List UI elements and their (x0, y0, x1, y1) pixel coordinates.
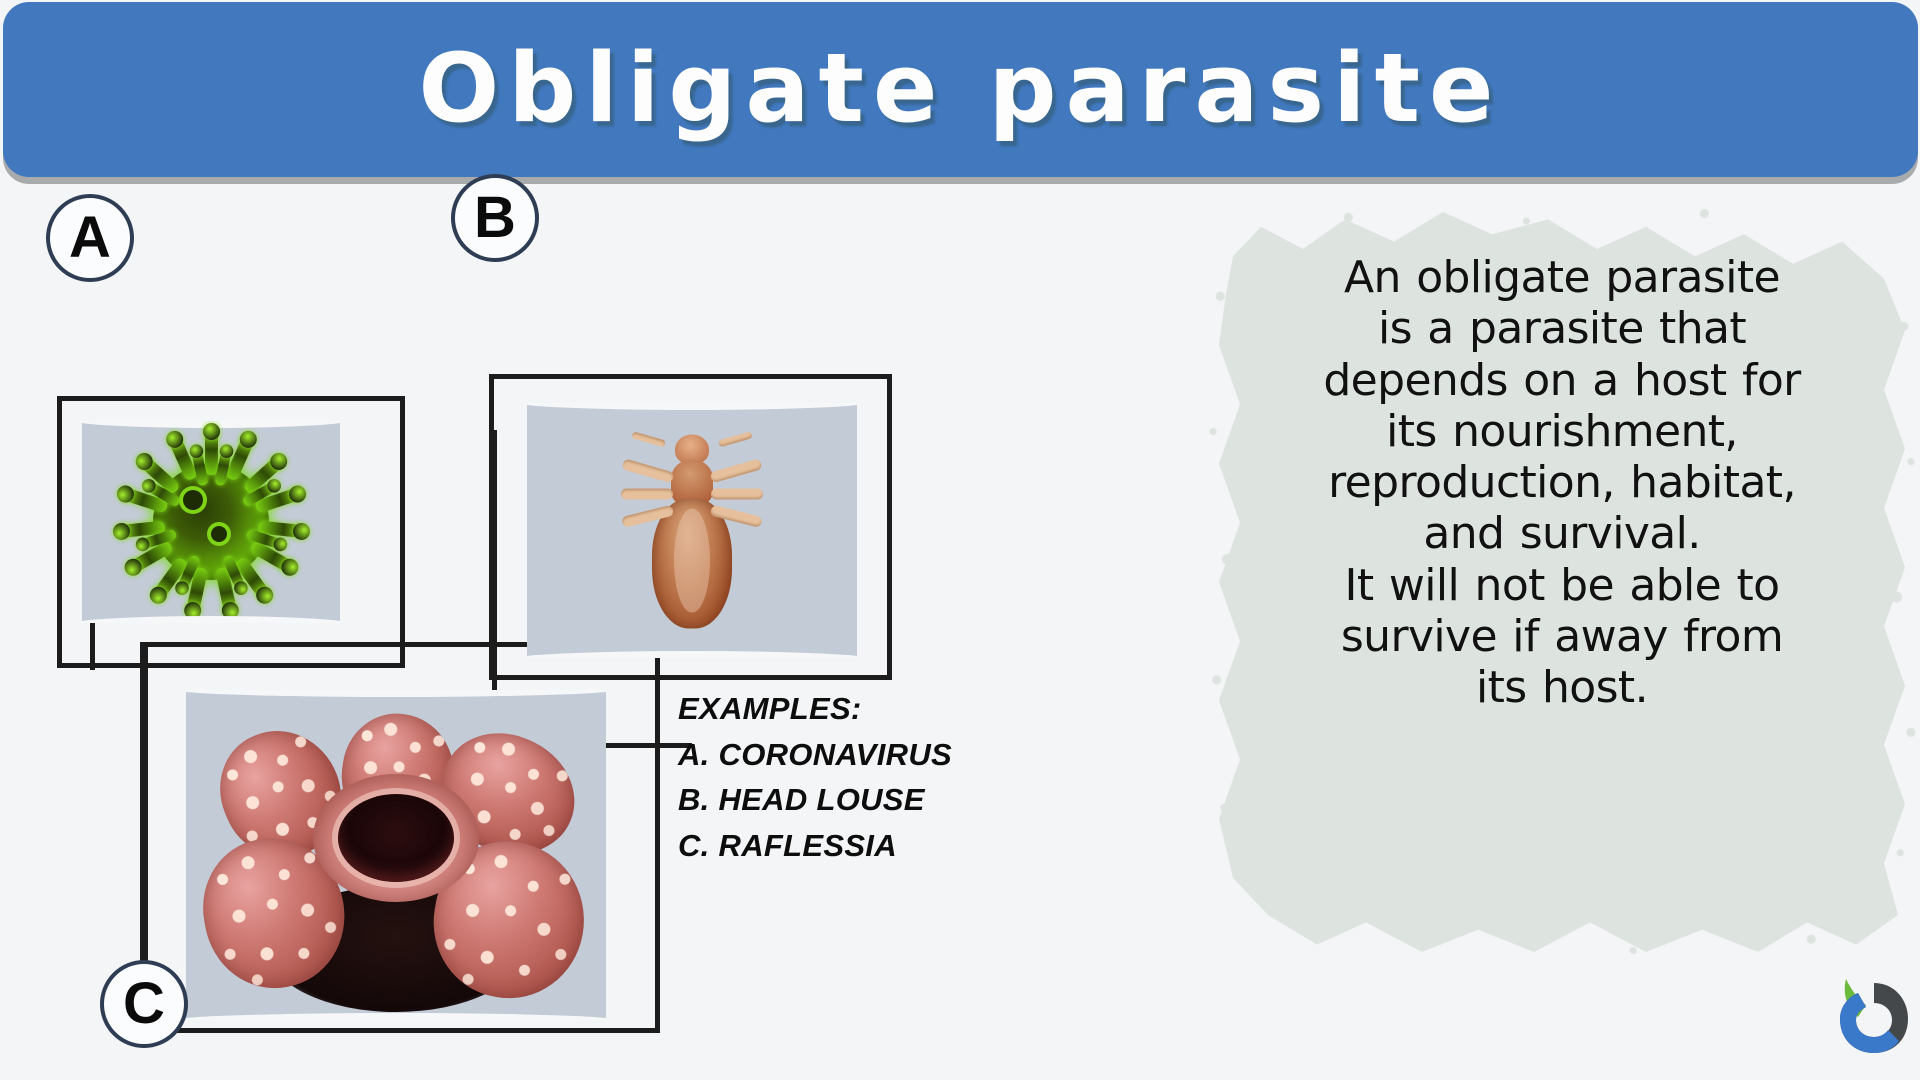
page-title: Obligate parasite (419, 42, 1503, 137)
definition-line-9: its host. (1238, 662, 1886, 713)
examples-diagram: A B C (0, 180, 1000, 1080)
biology-online-logo[interactable] (1836, 977, 1912, 1055)
head-louse-image (527, 403, 857, 658)
louse-illustration (607, 428, 777, 633)
rafflesia-image (186, 690, 606, 1020)
definition-text: An obligate parasite is a parasite that … (1212, 252, 1912, 713)
definition-panel: An obligate parasite is a parasite that … (1212, 212, 1912, 952)
badge-a: A (46, 194, 134, 282)
badge-c: C (100, 960, 188, 1048)
definition-line-3: depends on a host for (1238, 355, 1886, 406)
definition-line-6: and survival. (1238, 508, 1886, 559)
poster-canvas: Obligate parasite (0, 0, 1920, 1080)
badge-b: B (451, 174, 539, 262)
example-item-b: B. HEAD LOUSE (678, 777, 1008, 823)
example-item-c: C. RAFLESSIA (678, 823, 1008, 869)
rafflesia-illustration (196, 712, 596, 1012)
definition-line-2: is a parasite that (1238, 303, 1886, 354)
definition-line-8: survive if away from (1238, 611, 1886, 662)
badge-a-letter: A (69, 209, 111, 267)
rafflesia-cup (313, 774, 479, 902)
example-item-a: A. CORONAVIRUS (678, 732, 1008, 778)
badge-c-letter: C (123, 975, 165, 1033)
definition-line-5: reproduction, habitat, (1238, 457, 1886, 508)
definition-line-4: its nourishment, (1238, 406, 1886, 457)
definition-line-7: It will not be able to (1238, 560, 1886, 611)
definition-line-1: An obligate parasite (1238, 252, 1886, 303)
coronavirus-image (82, 421, 340, 623)
logo-icon (1836, 977, 1912, 1055)
examples-list: EXAMPLES: A. CORONAVIRUS B. HEAD LOUSE C… (678, 686, 1008, 868)
header-banner: Obligate parasite (3, 2, 1918, 177)
badge-b-letter: B (474, 189, 516, 247)
examples-heading: EXAMPLES: (678, 686, 1008, 732)
rafflesia-aperture (338, 794, 454, 882)
virus-illustration (119, 430, 303, 614)
